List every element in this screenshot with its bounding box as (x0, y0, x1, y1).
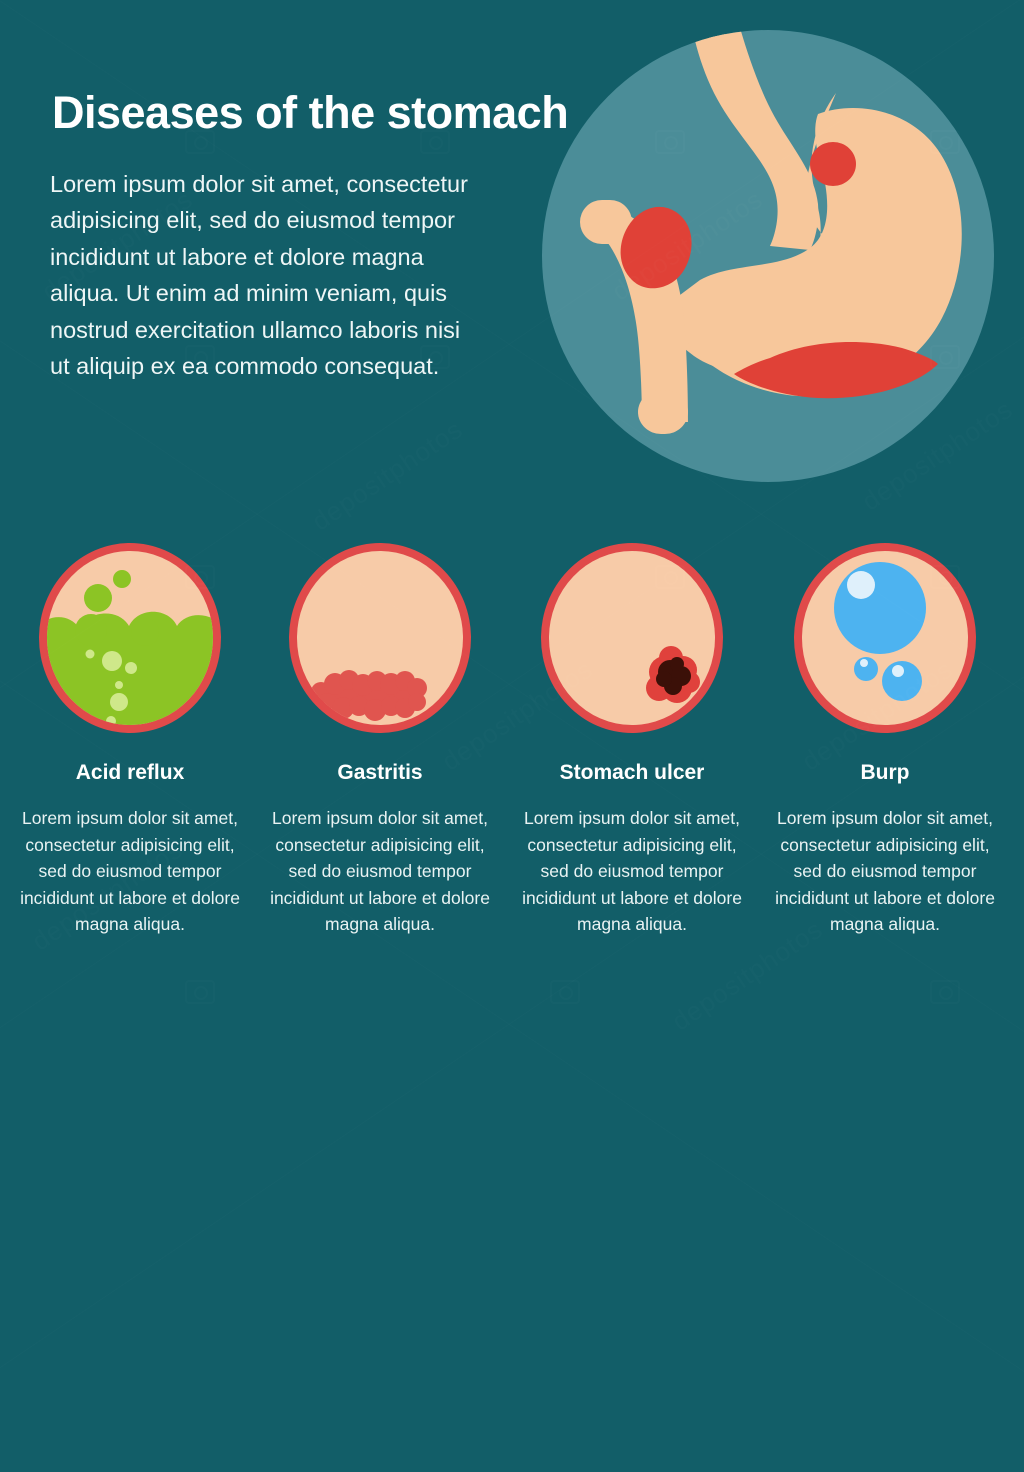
card-description: Lorem ipsum dolor sit amet, consectetur … (5, 805, 255, 938)
stomach-illustration (518, 18, 1008, 508)
gastritis-icon (285, 540, 475, 736)
burp-icon (790, 540, 980, 736)
hero-section: Diseases of the stomach Lorem ipsum dolo… (0, 0, 1024, 520)
card-description: Lorem ipsum dolor sit amet, consectetur … (507, 805, 757, 938)
stomach-ulcer-icon-wrap (537, 540, 727, 736)
card-label: Gastritis (255, 761, 505, 785)
camera-watermark-icon (930, 980, 960, 1004)
camera-watermark-icon (185, 980, 215, 1004)
disease-card-stomach-ulcer[interactable]: Stomach ulcer Lorem ipsum dolor sit amet… (507, 540, 757, 938)
disease-card-gastritis[interactable]: Gastritis Lorem ipsum dolor sit amet, co… (255, 540, 505, 938)
card-label: Burp (760, 761, 1010, 785)
burp-icon-wrap (790, 540, 980, 736)
stomach-anatomy-icon (518, 18, 1008, 508)
card-description: Lorem ipsum dolor sit amet, consectetur … (255, 805, 505, 938)
disease-card-burp[interactable]: Burp Lorem ipsum dolor sit amet, consect… (760, 540, 1010, 938)
disease-card-acid-reflux[interactable]: Acid reflux Lorem ipsum dolor sit amet, … (5, 540, 255, 938)
acid-reflux-icon (35, 540, 225, 736)
page-title: Diseases of the stomach (52, 87, 568, 139)
card-label: Stomach ulcer (507, 761, 757, 785)
camera-watermark-icon (550, 980, 580, 1004)
gastritis-icon-wrap (285, 540, 475, 736)
intro-paragraph: Lorem ipsum dolor sit amet, consectetur … (50, 166, 470, 385)
card-label: Acid reflux (5, 761, 255, 785)
card-description: Lorem ipsum dolor sit amet, consectetur … (760, 805, 1010, 938)
stomach-ulcer-icon (537, 540, 727, 736)
acid-reflux-icon-wrap (35, 540, 225, 736)
